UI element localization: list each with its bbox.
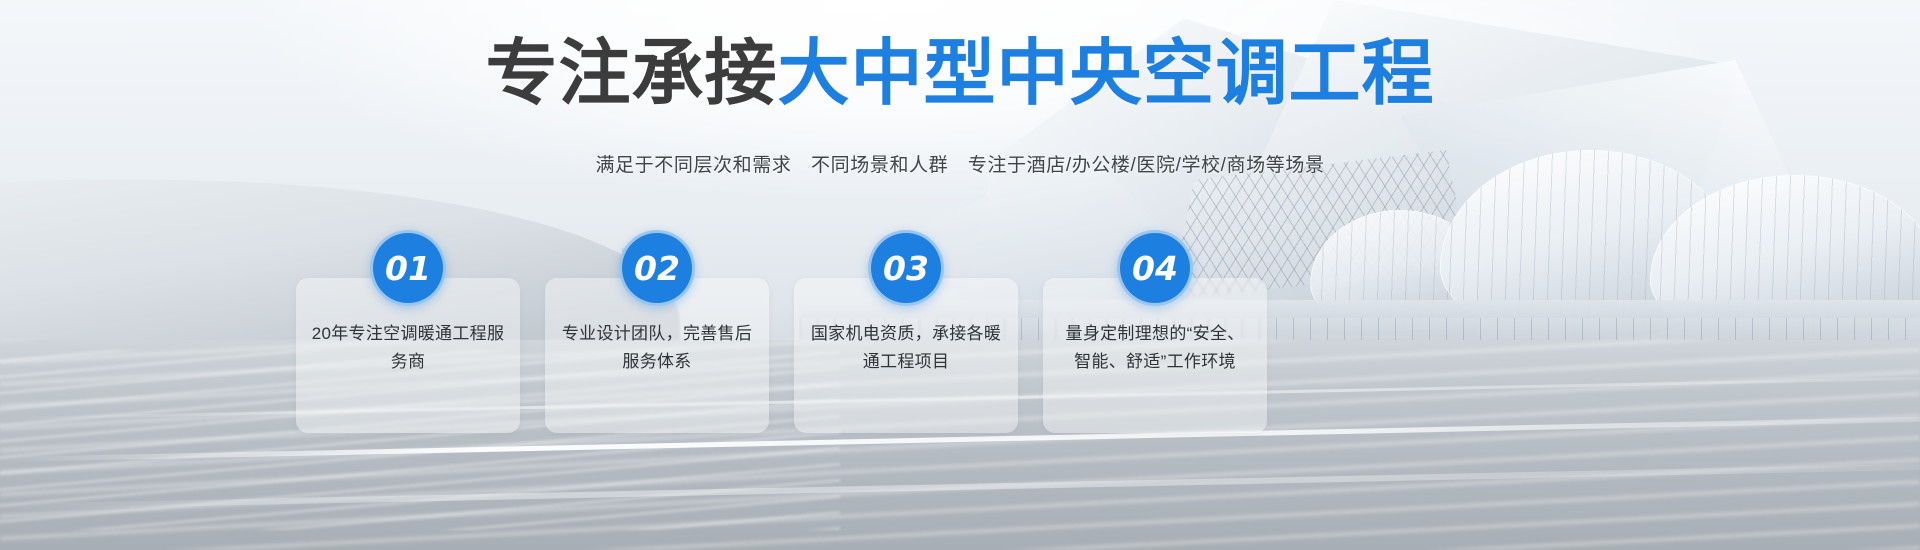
step-badge: 01 xyxy=(370,230,446,306)
page-subtitle: 满足于不同层次和需求 不同场景和人群 专注于酒店/办公楼/医院/学校/商场等场景 xyxy=(0,150,1920,177)
step-number: 02 xyxy=(634,249,680,288)
step-number: 03 xyxy=(883,249,929,288)
step-badge: 04 xyxy=(1117,230,1193,306)
step-badge: 03 xyxy=(868,230,944,306)
headline-blue-text: 大中型中央空调工程 xyxy=(778,38,1435,110)
hero-banner: 专注承接大中型中央空调工程 满足于不同层次和需求 不同场景和人群 专注于酒店/办… xyxy=(0,0,1920,550)
feature-card-text: 量身定制理想的“安全、智能、舒适”工作环境 xyxy=(1057,320,1253,375)
step-badge: 02 xyxy=(619,230,695,306)
feature-card[interactable]: 03 国家机电资质，承接各暖通工程项目 xyxy=(794,278,1018,433)
feature-card[interactable]: 01 20年专注空调暖通工程服务商 xyxy=(296,278,520,433)
feature-card[interactable]: 04 量身定制理想的“安全、智能、舒适”工作环境 xyxy=(1043,278,1267,433)
feature-card-text: 国家机电资质，承接各暖通工程项目 xyxy=(808,320,1004,375)
feature-card-list: 01 20年专注空调暖通工程服务商 02 专业设计团队，完善售后服务体系 03 … xyxy=(296,278,1544,433)
feature-card[interactable]: 02 专业设计团队，完善售后服务体系 xyxy=(545,278,769,433)
feature-card-text: 20年专注空调暖通工程服务商 xyxy=(310,320,506,375)
step-number: 04 xyxy=(1132,249,1178,288)
feature-card-text: 专业设计团队，完善售后服务体系 xyxy=(559,320,755,375)
page-title: 专注承接大中型中央空调工程 xyxy=(0,38,1920,110)
headline-dark-text: 专注承接 xyxy=(485,38,777,110)
step-number: 01 xyxy=(385,249,431,288)
